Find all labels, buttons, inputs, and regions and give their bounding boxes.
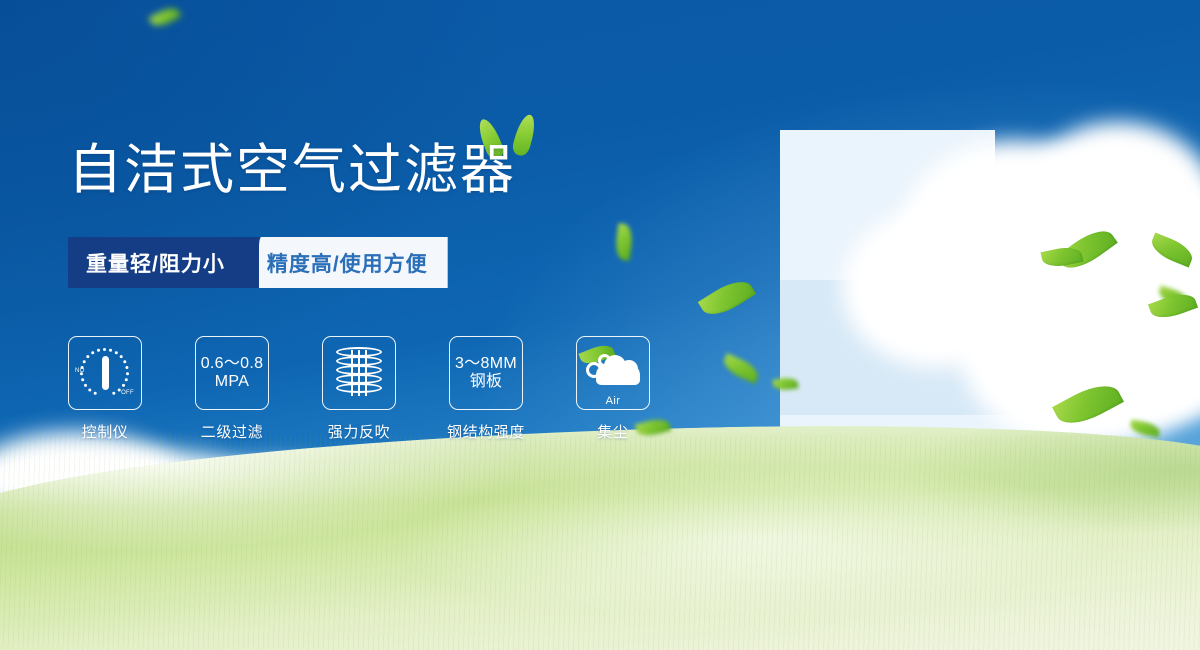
dial-label-off: OFF (121, 390, 134, 396)
pressure-text-icon: 0.6～0.8 MPA (195, 336, 269, 410)
tagline-badges: 重量轻/阻力小 精度高/使用方便 (68, 237, 448, 288)
air-cloud-icon: Air (576, 336, 650, 410)
feature-label-dust-collection: 集尘 (597, 421, 628, 442)
coil-graphic (336, 347, 382, 399)
steel-material: 钢板 (455, 373, 517, 391)
product-banner: 自洁式空气过滤器 重量轻/阻力小 精度高/使用方便 (0, 0, 1200, 650)
cloud-graphic: Air (584, 352, 642, 394)
steel-plate-text-icon: 3～8MM 钢板 (449, 336, 523, 410)
dial-label-no: NO (75, 368, 85, 374)
steel-thickness: 3～8MM (455, 355, 517, 373)
dial-pointer (102, 356, 109, 390)
feature-item-dust-collection[interactable]: Air 集尘 (576, 336, 650, 442)
feature-icon-row: NO OFF 控制仪 0.6～0.8 MPA 二级过滤 (68, 336, 650, 442)
page-title: 自洁式空气过滤器 (68, 143, 516, 197)
feature-label-steel-strength: 钢结构强度 (447, 421, 525, 442)
feature-item-two-stage-filter[interactable]: 0.6～0.8 MPA 二级过滤 (195, 336, 269, 442)
feature-item-steel-strength[interactable]: 3～8MM 钢板 钢结构强度 (449, 336, 523, 442)
pressure-value: 0.6～0.8 (201, 355, 264, 373)
feature-label-controller: 控制仪 (82, 421, 129, 442)
pressure-unit: MPA (201, 373, 264, 391)
feature-item-strong-blowback[interactable]: 强力反吹 (322, 336, 396, 442)
feature-item-controller[interactable]: NO OFF 控制仪 (68, 336, 142, 442)
badge-precision-convenience: 精度高/使用方便 (239, 237, 448, 288)
control-dial-icon: NO OFF (68, 336, 142, 410)
dial-graphic: NO OFF (77, 347, 133, 399)
air-label: Air (584, 395, 642, 407)
feature-label-strong-blowback: 强力反吹 (328, 421, 390, 442)
feature-label-two-stage-filter: 二级过滤 (201, 421, 263, 442)
filter-coil-icon (322, 336, 396, 410)
badge-weight-resistance: 重量轻/阻力小 (68, 237, 259, 288)
